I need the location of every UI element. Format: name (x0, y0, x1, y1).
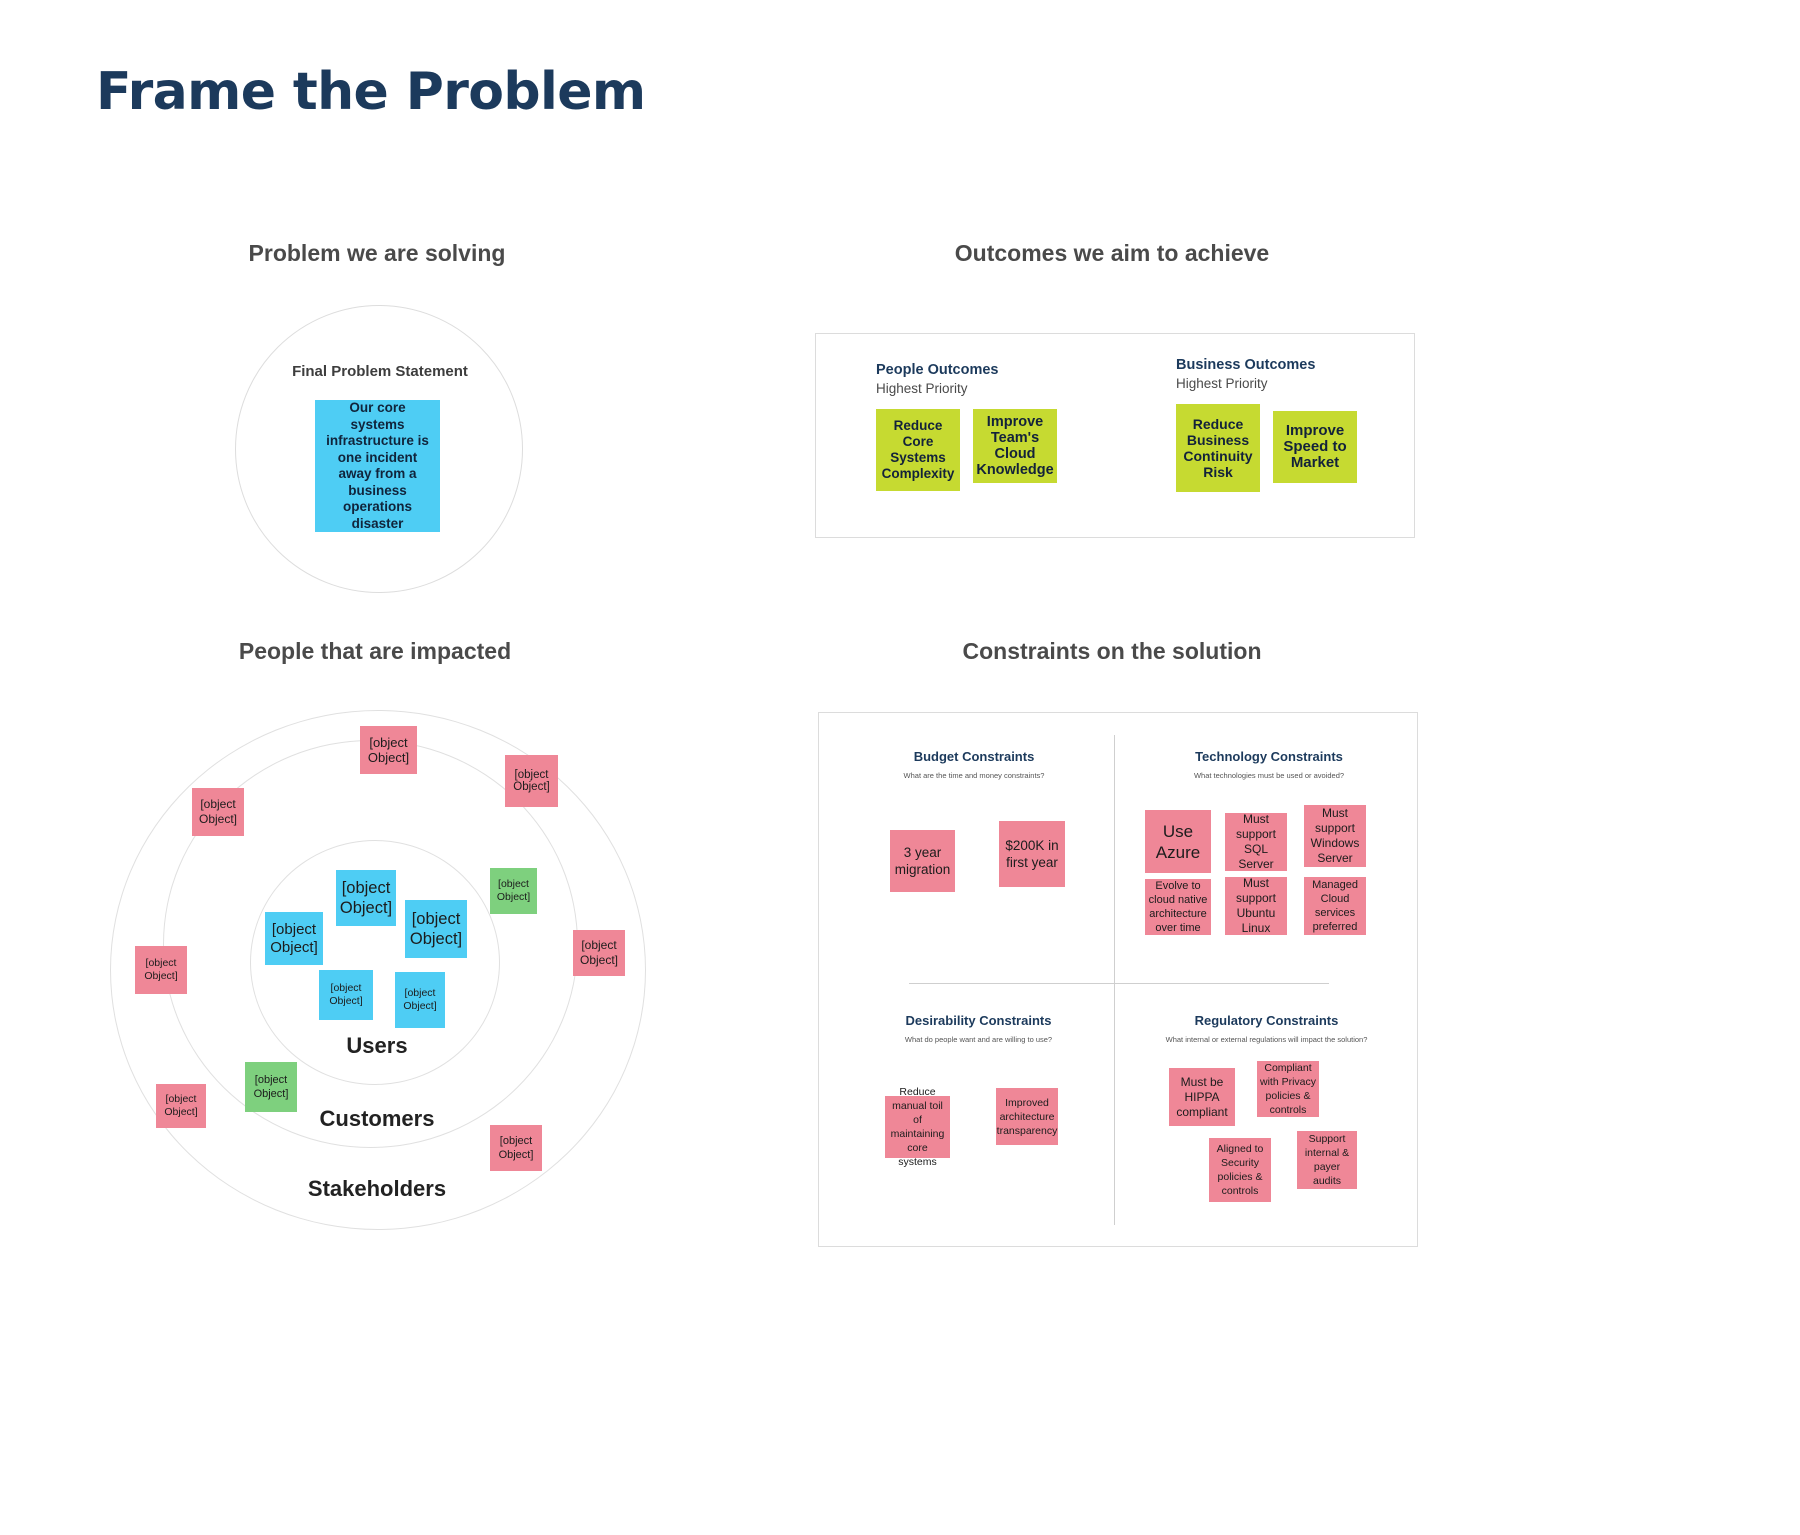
horizontal-divider (909, 983, 1329, 984)
people-outcomes-title: People Outcomes (876, 362, 1057, 378)
business-outcomes-title: Business Outcomes (1176, 357, 1357, 373)
constraint-note[interactable]: Aligned to Security policies & controls (1209, 1138, 1271, 1202)
technology-constraints-subtitle: What technologies must be used or avoide… (1149, 771, 1389, 780)
people-impacted-diagram: Users Customers Stakeholders [object Obj… (100, 700, 660, 1240)
people-note[interactable]: [object Object] (405, 900, 467, 958)
constraint-note[interactable]: Must be HIPPA compliant (1169, 1068, 1235, 1126)
ring-label-stakeholders: Stakeholders (308, 1176, 446, 1202)
people-note[interactable]: [object Object] (490, 1125, 542, 1171)
vertical-divider (1114, 735, 1115, 1225)
constraint-note[interactable]: Improved architecture transparency (996, 1088, 1058, 1145)
regulatory-quadrant-header: Regulatory Constraints What internal or … (1139, 1013, 1394, 1044)
final-problem-statement-label: Final Problem Statement (235, 363, 525, 380)
constraint-note[interactable]: Must support Windows Server (1304, 805, 1366, 867)
budget-quadrant-header: Budget Constraints What are the time and… (874, 749, 1074, 780)
business-outcomes-group: Business Outcomes Highest Priority Reduc… (1176, 357, 1357, 492)
section-title-outcomes: Outcomes we aim to achieve (955, 240, 1269, 267)
page-title: Frame the Problem (96, 62, 646, 122)
section-title-problem: Problem we are solving (249, 240, 506, 267)
people-note[interactable]: [object Object] (265, 912, 323, 965)
people-note[interactable]: [object Object] (395, 972, 445, 1028)
section-title-people: People that are impacted (239, 638, 511, 665)
regulatory-constraints-subtitle: What internal or external regulations wi… (1139, 1035, 1394, 1044)
constraint-note[interactable]: 3 year migration (890, 830, 955, 892)
regulatory-constraints-title: Regulatory Constraints (1139, 1013, 1394, 1028)
people-note[interactable]: [object Object] (319, 970, 373, 1020)
budget-constraints-subtitle: What are the time and money constraints? (874, 771, 1074, 780)
technology-constraints-title: Technology Constraints (1149, 749, 1389, 764)
outcome-note[interactable]: Improve Team's Cloud Knowledge (973, 409, 1057, 483)
people-note[interactable]: [object Object] (135, 946, 187, 994)
people-note[interactable]: [object Object] (336, 870, 396, 926)
outcome-note[interactable]: Reduce Core Systems Complexity (876, 409, 960, 491)
people-note[interactable]: [object Object] (505, 755, 558, 807)
outcomes-panel: People Outcomes Highest Priority Reduce … (815, 333, 1415, 538)
problem-diagram: Final Problem Statement Our core systems… (235, 305, 525, 595)
people-note[interactable]: [object Object] (156, 1084, 206, 1128)
budget-constraints-title: Budget Constraints (874, 749, 1074, 764)
constraint-note[interactable]: Compliant with Privacy policies & contro… (1257, 1061, 1319, 1117)
constraint-note[interactable]: Managed Cloud services preferred (1304, 877, 1366, 935)
desirability-constraints-title: Desirability Constraints (871, 1013, 1086, 1028)
constraint-note[interactable]: Must support SQL Server (1225, 813, 1287, 871)
ring-label-customers: Customers (320, 1106, 435, 1132)
ring-label-users: Users (346, 1033, 407, 1059)
constraint-note[interactable]: $200K in first year (999, 821, 1065, 887)
constraints-panel: Budget Constraints What are the time and… (818, 712, 1418, 1247)
people-outcomes-subtitle: Highest Priority (876, 381, 1057, 396)
people-outcomes-group: People Outcomes Highest Priority Reduce … (876, 362, 1057, 491)
people-outcomes-notes: Reduce Core Systems Complexity Improve T… (876, 409, 1057, 491)
constraint-note[interactable]: Use Azure (1145, 810, 1211, 873)
people-note[interactable]: [object Object] (245, 1062, 297, 1112)
problem-statement-note[interactable]: Our core systems infrastructure is one i… (315, 400, 440, 532)
people-note[interactable]: [object Object] (490, 868, 537, 914)
business-outcomes-subtitle: Highest Priority (1176, 376, 1357, 391)
desirability-constraints-subtitle: What do people want and are willing to u… (871, 1035, 1086, 1044)
constraint-note[interactable]: Must support Ubuntu Linux (1225, 877, 1287, 935)
outcome-note[interactable]: Reduce Business Continuity Risk (1176, 404, 1260, 492)
people-note[interactable]: [object Object] (192, 788, 244, 836)
desirability-quadrant-header: Desirability Constraints What do people … (871, 1013, 1086, 1044)
outcome-note[interactable]: Improve Speed to Market (1273, 411, 1357, 483)
people-note[interactable]: [object Object] (573, 930, 625, 976)
constraint-note[interactable]: Support internal & payer audits (1297, 1131, 1357, 1189)
technology-quadrant-header: Technology Constraints What technologies… (1149, 749, 1389, 780)
constraint-note[interactable]: Evolve to cloud native architecture over… (1145, 879, 1211, 935)
business-outcomes-notes: Reduce Business Continuity Risk Improve … (1176, 404, 1357, 492)
constraint-note[interactable]: Reduce manual toil of maintaining core s… (885, 1096, 950, 1158)
section-title-constraints: Constraints on the solution (963, 638, 1262, 665)
people-note[interactable]: [object Object] (360, 726, 417, 774)
